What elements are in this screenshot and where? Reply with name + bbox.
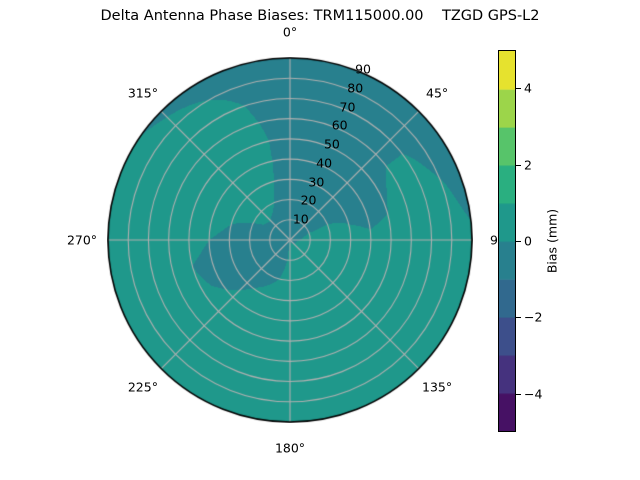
colorbar-tick-label: −4	[524, 386, 542, 401]
colorbar-axis-label: Bias (mm)	[545, 209, 560, 273]
colorbar-tick-label: −2	[524, 310, 542, 325]
angular-tick-225: 225°	[128, 380, 158, 395]
colorbar-tick-mark	[516, 165, 521, 166]
page-title: Delta Antenna Phase Biases: TRM115000.00…	[0, 8, 640, 24]
colorbar-tick-label: 0	[524, 234, 532, 249]
radial-tick-50: 50	[324, 137, 340, 152]
radial-tick-60: 60	[332, 118, 348, 133]
colorbar-tick-mark	[516, 394, 521, 395]
colorbar-tick-mark	[516, 88, 521, 89]
colorbar-tick-mark	[516, 317, 521, 318]
radial-tick-90: 90	[355, 61, 371, 76]
radial-tick-40: 40	[316, 155, 332, 170]
colorbar-tick-label: 4	[524, 81, 532, 96]
angular-tick-135: 135°	[422, 380, 452, 395]
radial-tick-10: 10	[293, 212, 309, 227]
radial-tick-20: 20	[301, 193, 317, 208]
figure-canvas: Delta Antenna Phase Biases: TRM115000.00…	[0, 0, 640, 480]
angular-tick-270: 270°	[67, 233, 97, 248]
colorbar-tick-label: 2	[524, 157, 532, 172]
angular-tick-315: 315°	[128, 85, 158, 100]
colorbar-tick-mark	[516, 241, 521, 242]
polar-contour-canvas	[107, 57, 473, 423]
radial-tick-80: 80	[347, 80, 363, 95]
angular-tick-0: 0°	[283, 25, 297, 40]
colorbar[interactable]: 420−2−4	[498, 50, 516, 432]
radial-tick-30: 30	[308, 174, 324, 189]
angular-tick-45: 45°	[426, 85, 448, 100]
radial-tick-70: 70	[340, 99, 356, 114]
colorbar-gradient	[498, 50, 516, 432]
angular-tick-180: 180°	[275, 441, 305, 456]
polar-plot-axes[interactable]: 0°45°90135°180°225°270°315° 102030405060…	[107, 57, 473, 423]
